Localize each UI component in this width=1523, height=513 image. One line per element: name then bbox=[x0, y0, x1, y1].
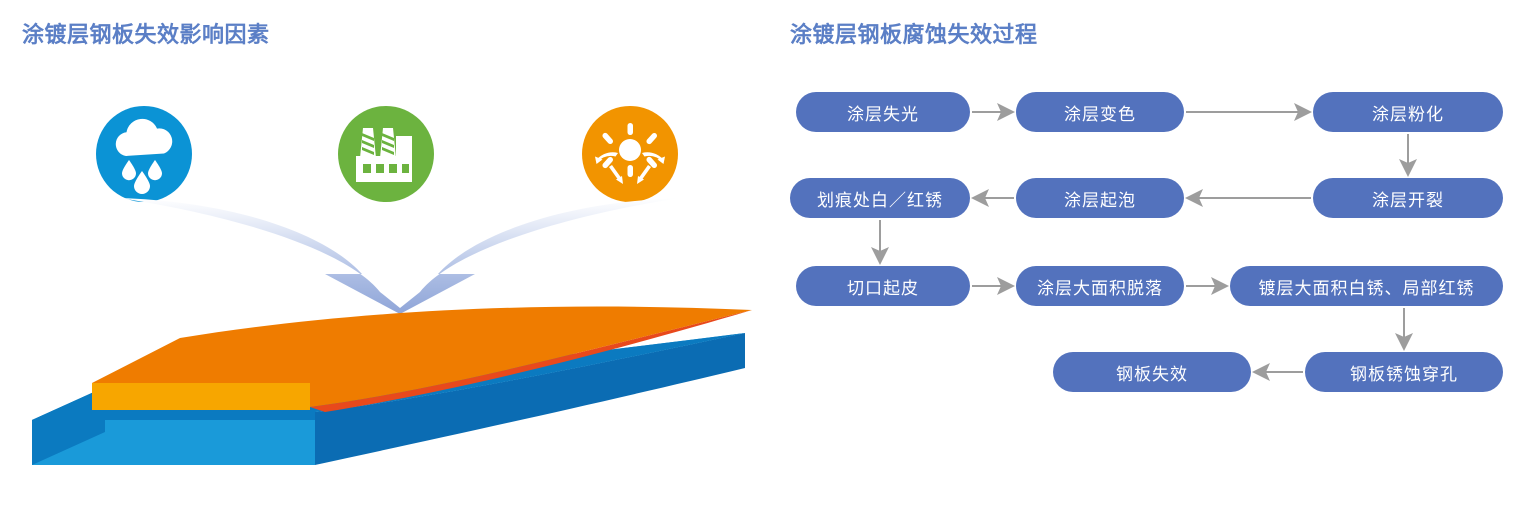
flow-node-large-area-white-rust-local-red-rust[interactable]: 镀层大面积白锈、局部红锈 bbox=[1230, 266, 1503, 306]
corrosion-failure-process-panel: 涂镀层钢板腐蚀失效过程 bbox=[780, 0, 1523, 513]
flow-node-coating-blistering[interactable]: 涂层起泡 bbox=[1016, 178, 1184, 218]
flow-node-coating-discoloration[interactable]: 涂层变色 bbox=[1016, 92, 1184, 132]
flow-node-coating-cracking[interactable]: 涂层开裂 bbox=[1313, 178, 1503, 218]
influencing-factors-panel: 涂镀层钢板失效影响因素 bbox=[0, 0, 770, 513]
flow-node-large-area-coating-delamination[interactable]: 涂层大面积脱落 bbox=[1016, 266, 1184, 306]
flow-node-scratch-white-red-rust[interactable]: 划痕处白／红锈 bbox=[790, 178, 970, 218]
flow-node-steel-failure[interactable]: 钢板失效 bbox=[1053, 352, 1251, 392]
left-panel-title: 涂镀层钢板失效影响因素 bbox=[22, 17, 270, 49]
right-panel-title: 涂镀层钢板腐蚀失效过程 bbox=[790, 17, 1038, 49]
flow-node-steel-perforation[interactable]: 钢板锈蚀穿孔 bbox=[1305, 352, 1503, 392]
sun-icon bbox=[582, 106, 678, 202]
factory-icon bbox=[338, 106, 434, 202]
flow-node-coating-gloss-loss[interactable]: 涂层失光 bbox=[796, 92, 970, 132]
flow-connectors bbox=[780, 0, 1523, 513]
flow-node-cut-edge-peeling[interactable]: 切口起皮 bbox=[796, 266, 970, 306]
layered-steel-plate-icon bbox=[10, 290, 760, 505]
rain-cloud-icon bbox=[96, 106, 192, 202]
flow-node-coating-chalking[interactable]: 涂层粉化 bbox=[1313, 92, 1503, 132]
